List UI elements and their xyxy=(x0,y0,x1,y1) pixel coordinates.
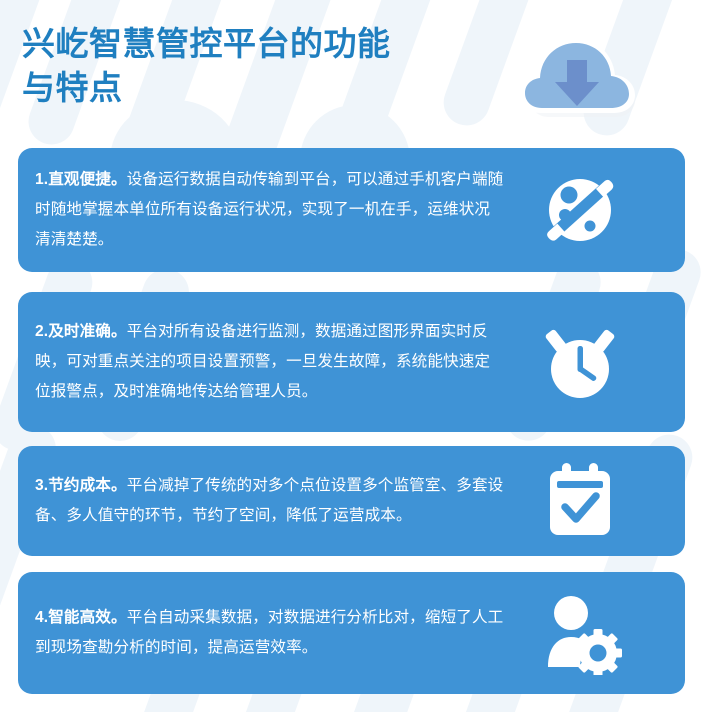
feature-card-3[interactable]: 3.节约成本。平台减掉了传统的对多个点位设置多个监管室、多套设备、多人值守的环节… xyxy=(18,446,685,556)
feature-card-1-lead: 1.直观便捷。 xyxy=(35,171,127,188)
feature-card-1[interactable]: 1.直观便捷。设备运行数据自动传输到平台，可以通过手机客户端随时随地掌握本单位所… xyxy=(18,148,685,272)
feature-card-4-text: 4.智能高效。平台自动采集数据，对数据进行分析比对，缩短了人工到现场查勘分析的时… xyxy=(18,603,505,663)
feature-card-1-text: 1.直观便捷。设备运行数据自动传输到平台，可以通过手机客户端随时随地掌握本单位所… xyxy=(18,165,505,255)
feature-card-3-text: 3.节约成本。平台减掉了传统的对多个点位设置多个监管室、多套设备、多人值守的环节… xyxy=(18,471,505,531)
calendar-check-icon xyxy=(505,459,685,543)
page-title: 兴屹智慧管控平台的功能 与特点 xyxy=(22,22,472,110)
cloud-download-icon xyxy=(495,18,655,126)
alarm-clock-icon xyxy=(505,320,685,404)
feature-card-2[interactable]: 2.及时准确。平台对所有设备进行监测，数据通过图形界面实时反映，可对重点关注的项… xyxy=(18,292,685,432)
planet-satellite-icon xyxy=(505,168,685,252)
page-header: 兴屹智慧管控平台的功能 与特点 xyxy=(0,0,703,140)
feature-card-2-text: 2.及时准确。平台对所有设备进行监测，数据通过图形界面实时反映，可对重点关注的项… xyxy=(18,317,505,407)
feature-card-3-lead: 3.节约成本。 xyxy=(35,477,127,494)
user-settings-icon xyxy=(505,591,685,675)
feature-card-2-lead: 2.及时准确。 xyxy=(35,323,127,340)
feature-card-4[interactable]: 4.智能高效。平台自动采集数据，对数据进行分析比对，缩短了人工到现场查勘分析的时… xyxy=(18,572,685,694)
feature-card-4-lead: 4.智能高效。 xyxy=(35,609,127,626)
